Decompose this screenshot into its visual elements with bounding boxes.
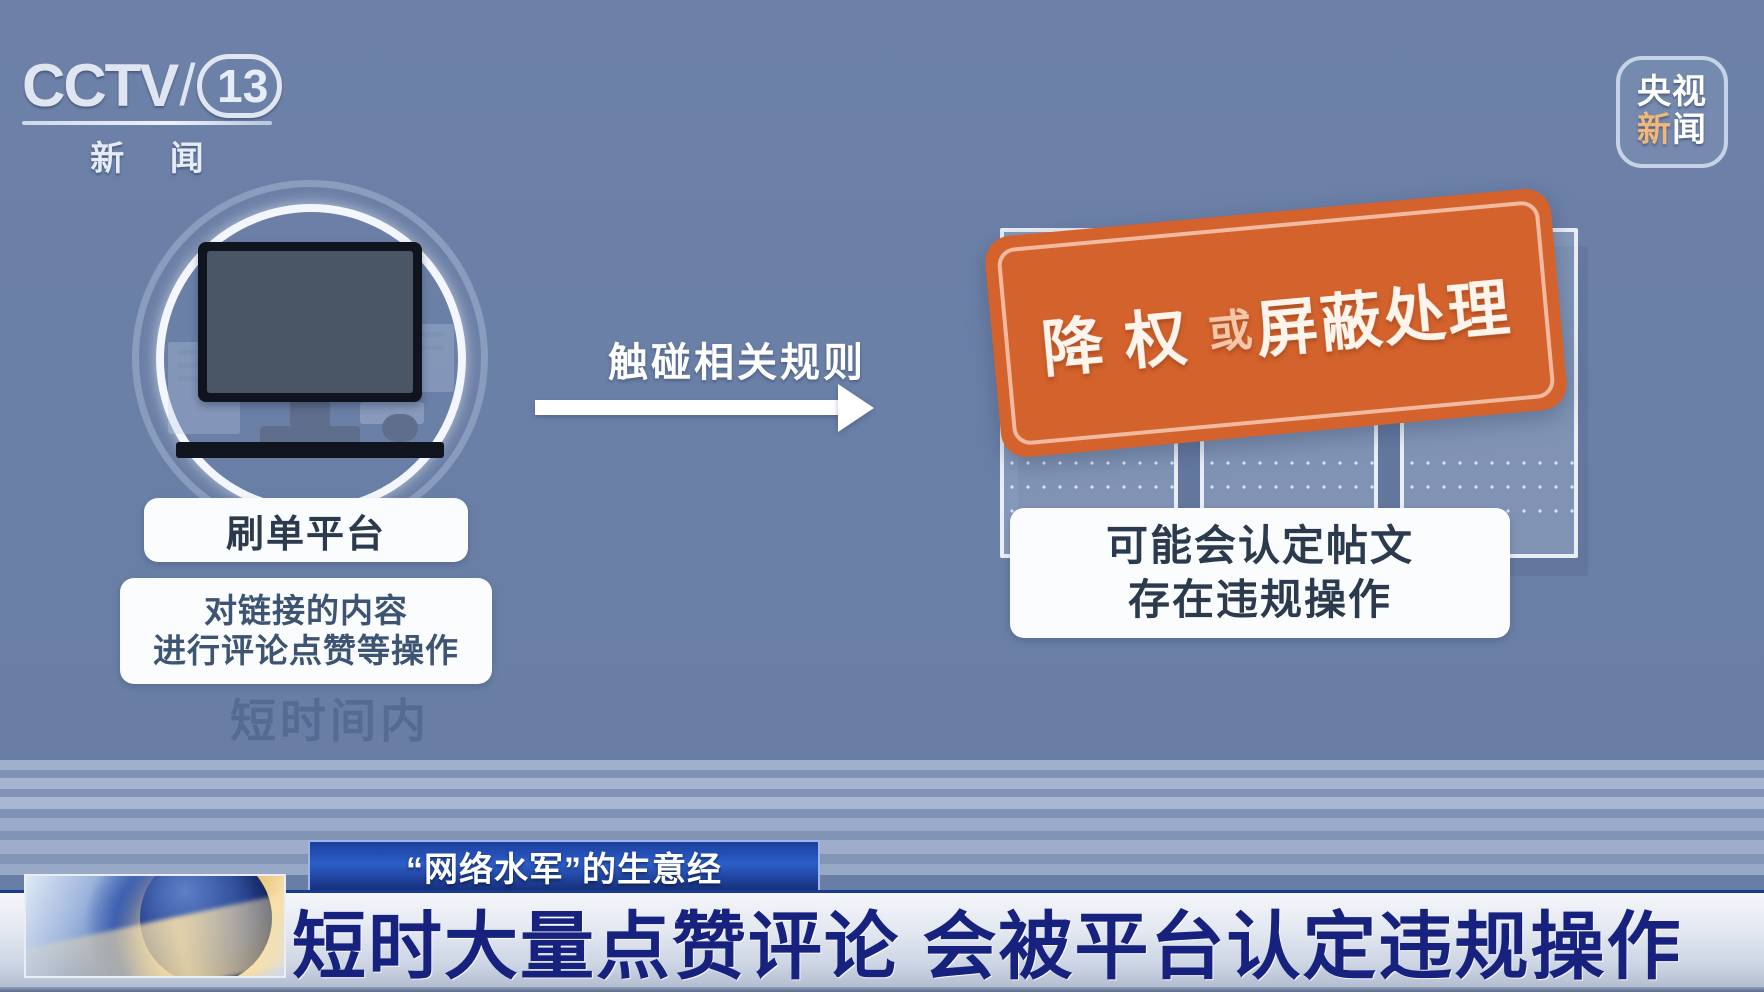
label-platform-text: 刷单平台 [226,503,386,558]
label-actions: 对链接的内容 进行评论点赞等操作 [120,578,492,684]
news-badge-rest: 闻 [1672,111,1707,149]
news-badge-line2: 新闻 [1637,113,1707,149]
monitor-screen [207,251,413,393]
cctv-wordmark: CCTV [22,56,177,116]
arrow-label: 触碰相关规则 [608,330,866,388]
label-result-line2: 存在违规操作 [1128,573,1392,627]
cctv-underline [22,121,272,125]
desk-surface [176,442,444,458]
mouse-shape [382,414,418,442]
cctv13-logo-row: CCTV / 13 [22,52,282,119]
broadcast-screen: CCTV / 13 新 闻 央视 新闻 [0,0,1764,992]
label-actions-line2: 进行评论点赞等操作 [153,631,459,671]
watermark-duration: 短时间内 [200,685,460,751]
cctv-slash: / [179,52,195,119]
sign-text-part2: 屏蔽处理 [1252,257,1515,370]
right-arrow-icon [535,400,840,415]
cctv-news-badge: 央视 新闻 [1616,56,1728,168]
cctv-subtitle: 新 闻 [22,131,272,180]
sign-text-part1: 降 权 [1037,286,1192,389]
desktop-monitor-icon [150,196,470,516]
cctv13-logo: CCTV / 13 新 闻 [22,52,282,177]
topic-tag: “网络水军”的生意经 [308,840,820,892]
topic-tag-text: “网络水军”的生意经 [406,842,722,891]
sign-text-connector: 或 [1205,293,1257,361]
label-platform: 刷单平台 [144,498,468,562]
news-badge-line1: 央视 [1637,75,1707,111]
globe-graphic-icon [24,874,286,978]
right-arrow-head-icon [838,384,874,432]
label-result-line1: 可能会认定帖文 [1106,519,1414,573]
decorative-stripes [0,760,1764,875]
cctv-channel-ring: 13 [197,54,282,118]
label-result: 可能会认定帖文 存在违规操作 [1010,508,1510,638]
cctv-channel-number: 13 [211,63,268,109]
headline-text: 短时大量点赞评论 会被平台认定违规操作 [292,890,1764,990]
news-badge-highlight: 新 [1637,111,1672,149]
label-actions-line1: 对链接的内容 [204,591,408,631]
monitor-body [198,242,422,402]
